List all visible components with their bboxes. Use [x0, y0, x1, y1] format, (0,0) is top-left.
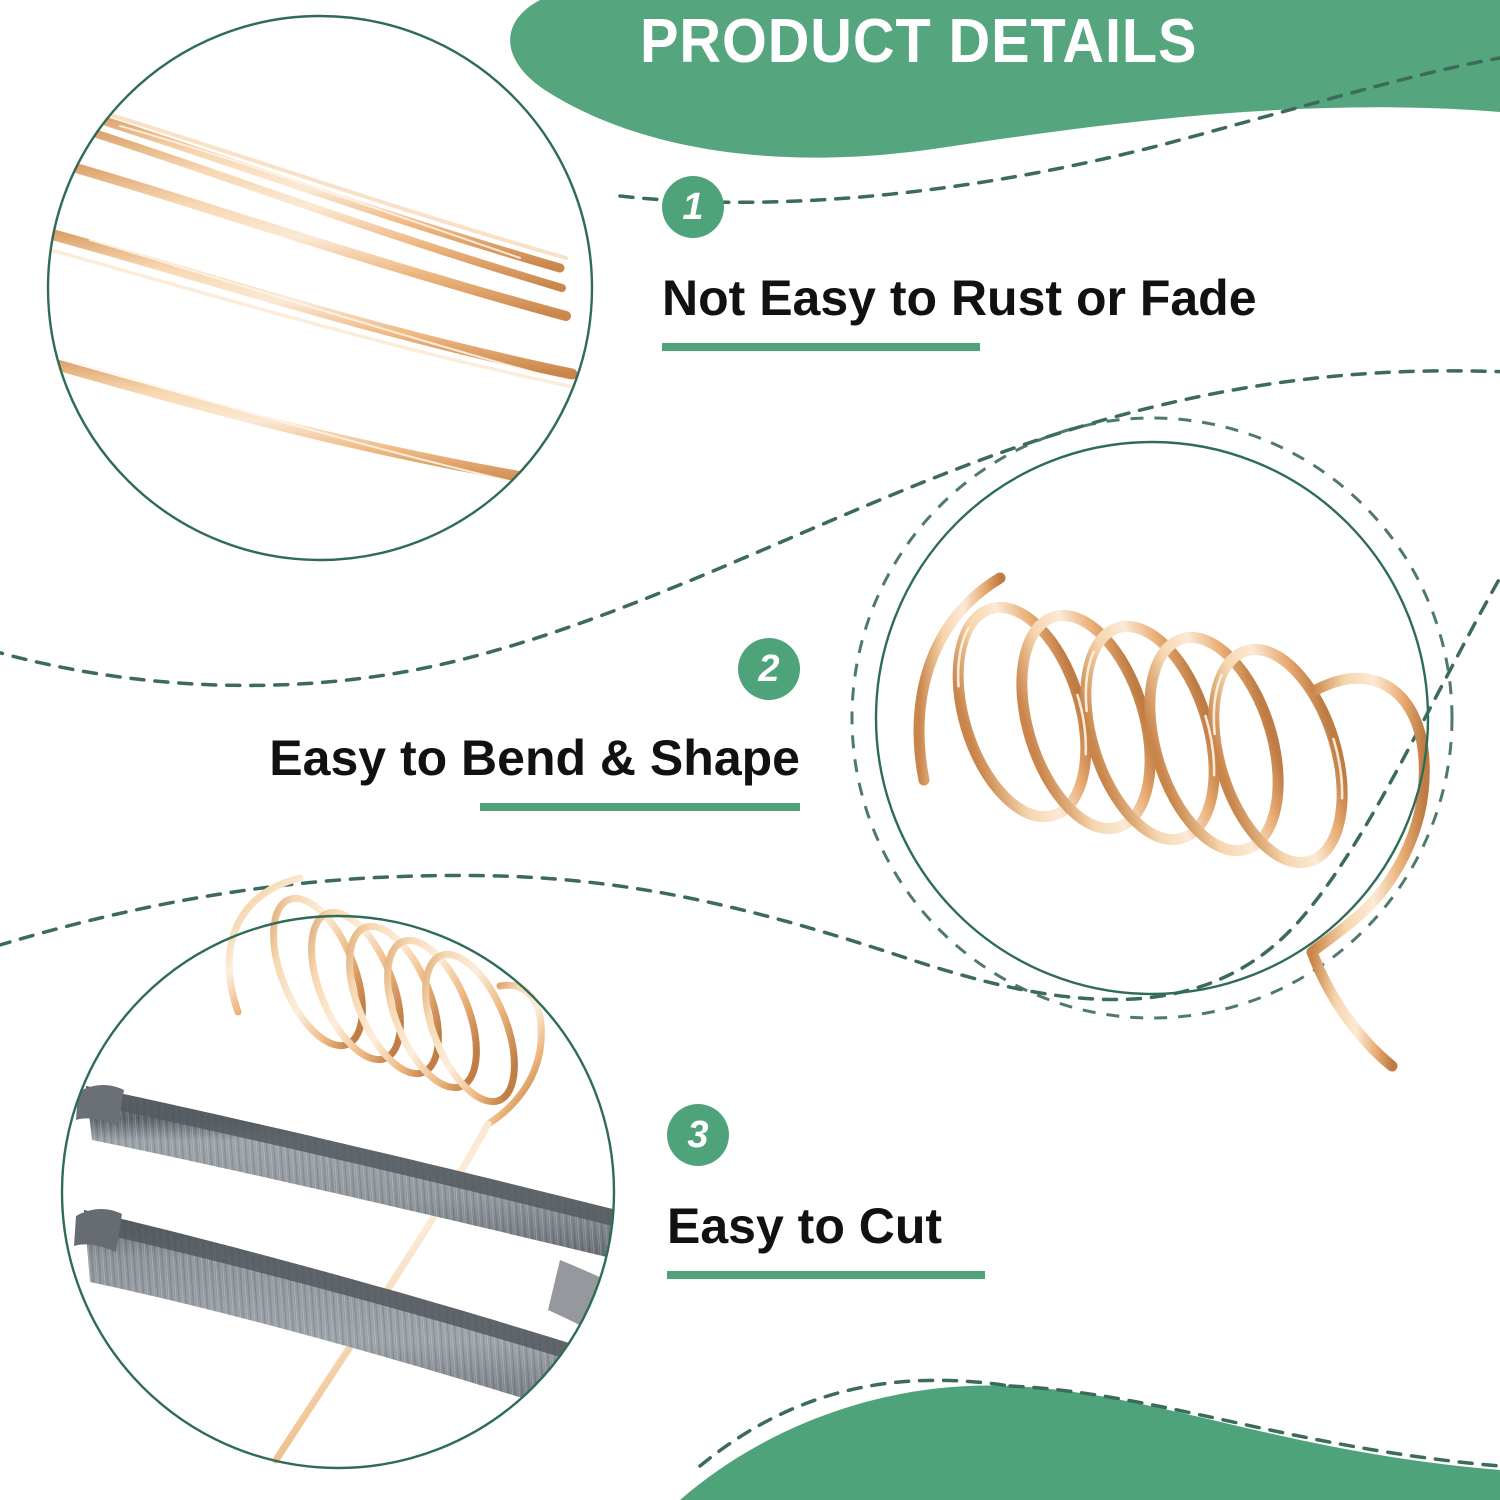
feature-step-2: 2 Easy to Bend & Shape	[256, 638, 800, 811]
step-title-3: Easy to Cut	[667, 1200, 985, 1253]
step-underline-1	[662, 343, 980, 351]
product-details-infographic: PRODUCT DETAILS 1 Not Easy to Rust or Fa…	[0, 0, 1500, 1500]
step-title-2: Easy to Bend & Shape	[256, 732, 800, 785]
feature-step-3: 3 Easy to Cut	[667, 1104, 985, 1279]
feature-step-1: 1 Not Easy to Rust or Fade	[662, 176, 1257, 351]
page-title: PRODUCT DETAILS	[640, 6, 1291, 77]
step-underline-2	[480, 803, 800, 811]
step-badge-3: 3	[667, 1104, 729, 1166]
step-badge-1: 1	[662, 176, 724, 238]
step-badge-2: 2	[738, 638, 800, 700]
step-title-1: Not Easy to Rust or Fade	[662, 272, 1257, 325]
step-underline-3	[667, 1271, 985, 1279]
